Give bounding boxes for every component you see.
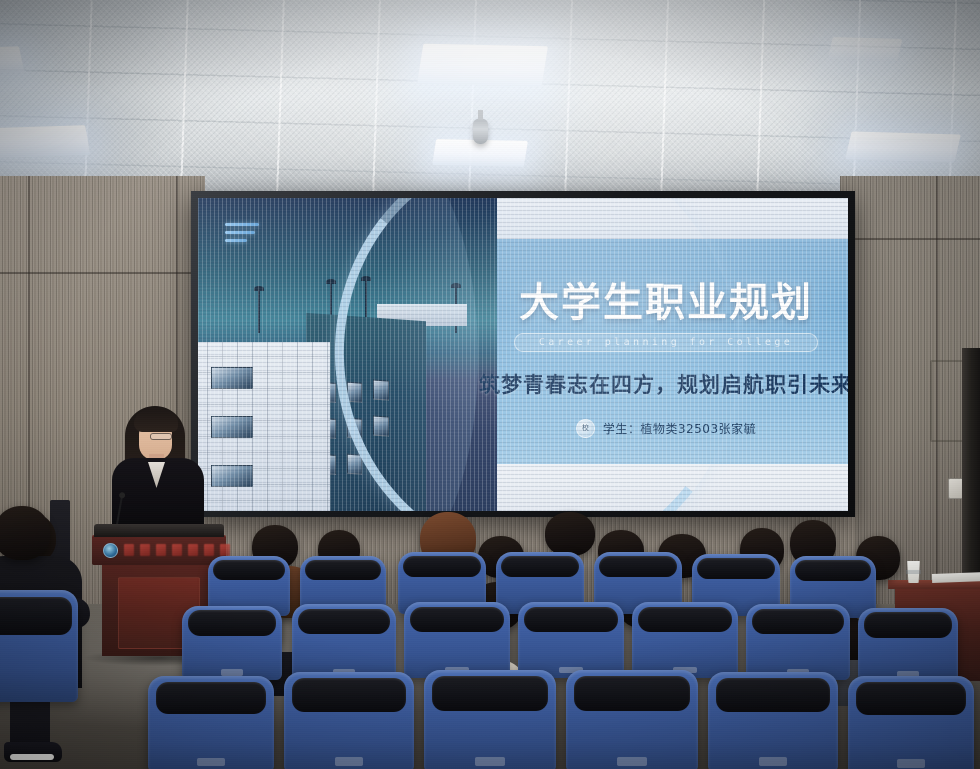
- podium-name-char: [124, 544, 134, 556]
- podium-name-char: [204, 544, 214, 556]
- ceiling: [0, 0, 980, 196]
- paper-stack: [932, 572, 980, 583]
- slide-title: 大学生职业规划: [519, 282, 813, 324]
- presentation-slide[interactable]: 大学生职业规划 Career planning for College 筑梦青春…: [198, 198, 848, 511]
- ceiling-shading: [0, 0, 980, 196]
- presenter: [112, 406, 204, 538]
- auditorium-seat[interactable]: [182, 606, 282, 680]
- glasses-icon: [150, 433, 172, 440]
- auditorium-seat[interactable]: [424, 670, 556, 769]
- list-lines-icon: [225, 223, 259, 242]
- auditorium-seat[interactable]: [708, 672, 838, 769]
- podium-name-char: [172, 544, 182, 556]
- auditorium-seat[interactable]: [858, 608, 958, 682]
- auditorium-seat[interactable]: [404, 602, 510, 678]
- auditorium-seat[interactable]: [284, 672, 414, 769]
- slide-student-line: 学生：植物类32503张家毓: [603, 420, 756, 437]
- auditorium-seat[interactable]: [746, 604, 850, 680]
- building-white-wing: [198, 342, 330, 511]
- auditorium-seat[interactable]: [148, 676, 274, 769]
- podium-name-char: [220, 544, 230, 556]
- auditorium-seat[interactable]: [518, 602, 624, 678]
- audience-head: [0, 506, 50, 560]
- auditorium-seat[interactable]: [848, 676, 974, 769]
- podium-desktop: [94, 524, 224, 537]
- podium-school-name: [124, 544, 230, 556]
- audience-head: [545, 512, 595, 556]
- podium-name-char: [156, 544, 166, 556]
- podium-name-char: [188, 544, 198, 556]
- presenter-fringe: [134, 410, 178, 432]
- slide-subtitle-en: Career planning for College: [514, 333, 818, 352]
- foreground-person-shoe: [4, 742, 62, 762]
- slide-tagline: 筑梦青春志在四方，规划启航职引未来: [479, 369, 848, 399]
- paper-cup-band: [906, 570, 921, 574]
- slide-text-block: 大学生职业规划 Career planning for College 筑梦青春…: [484, 198, 848, 511]
- auditorium-seat[interactable]: [292, 604, 396, 680]
- auditorium-seat[interactable]: [566, 670, 698, 769]
- auditorium-seat[interactable]: [0, 590, 78, 702]
- antenna-mast-icon: [258, 286, 260, 333]
- led-display-frame: 大学生职业规划 Career planning for College 筑梦青春…: [191, 191, 855, 517]
- school-emblem-icon: [103, 543, 118, 558]
- slide-student-row: 校 学生：植物类32503张家毓: [576, 419, 756, 438]
- podium-name-char: [140, 544, 150, 556]
- auditorium-seat[interactable]: [632, 602, 738, 678]
- lecture-hall-photo: 大学生职业规划 Career planning for College 筑梦青春…: [0, 0, 980, 769]
- school-badge-icon: 校: [576, 419, 595, 438]
